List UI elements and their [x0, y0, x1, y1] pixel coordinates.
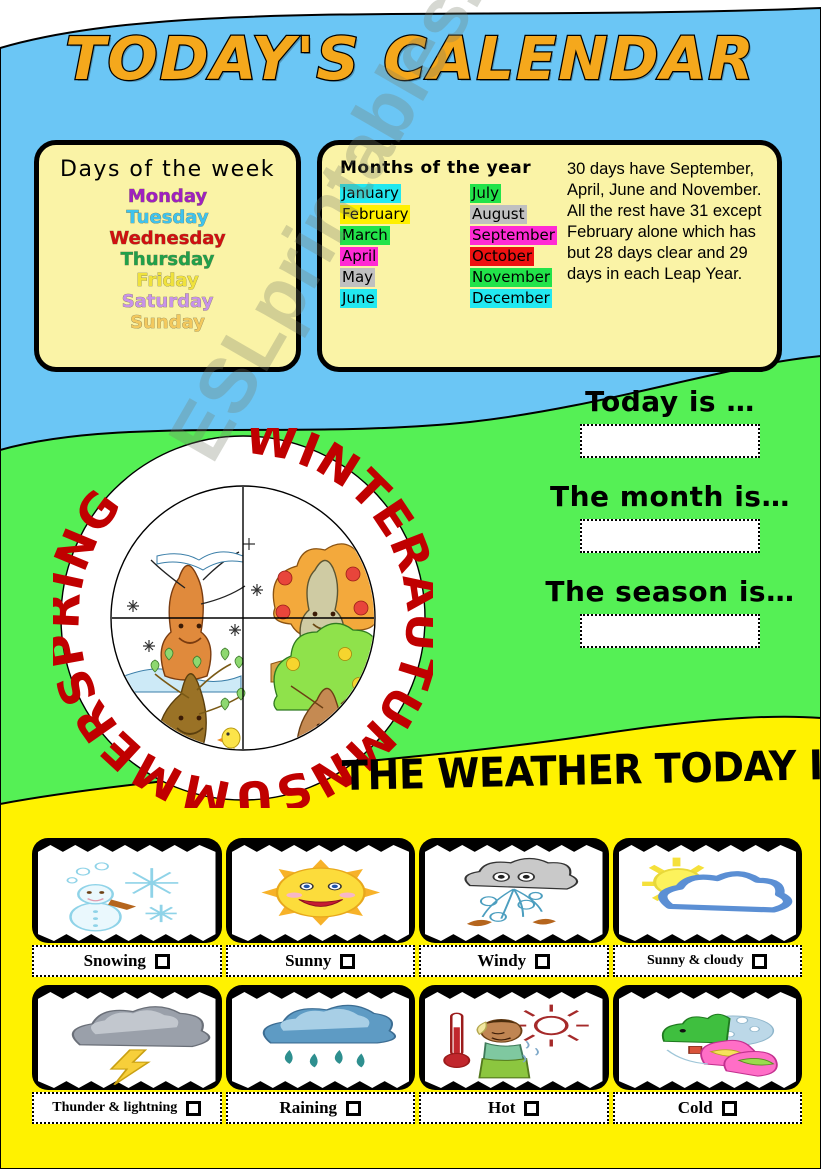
form-label-0: Today is …: [530, 385, 810, 418]
windy-cloud-icon: [425, 843, 603, 942]
month-item: May: [340, 268, 375, 287]
weather-checkbox[interactable]: [186, 1101, 201, 1116]
month-item: August: [470, 205, 527, 224]
month-item: October: [470, 247, 534, 266]
form-input-2[interactable]: [580, 614, 760, 648]
weather-card-label-row[interactable]: Snowing: [32, 945, 222, 977]
weather-checkbox[interactable]: [722, 1101, 737, 1116]
day-of-week-item: Wednesday: [39, 228, 296, 249]
months-of-year-card: Months of the year JanuaryFebruaryMarchA…: [317, 140, 782, 372]
weather-card-label: Hot: [488, 1098, 515, 1118]
weather-card[interactable]: Windy: [419, 838, 609, 977]
weather-card-image: [32, 838, 222, 943]
weather-checkbox[interactable]: [752, 954, 767, 969]
weather-card-label: Raining: [279, 1098, 337, 1118]
day-of-week-item: Saturday: [39, 291, 296, 312]
weather-card-image: [419, 838, 609, 943]
hot-thermometer-icon: [425, 990, 603, 1089]
weather-card-label-row[interactable]: Cold: [613, 1092, 803, 1124]
month-item: April: [340, 247, 378, 266]
days-of-week-list: MondayTuesdayWednesdayThursdayFridaySatu…: [39, 186, 296, 333]
weather-checkbox[interactable]: [155, 954, 170, 969]
weather-card-image: [613, 985, 803, 1090]
weather-card-image: [226, 838, 416, 943]
days-of-week-card: Days of the week MondayTuesdayWednesdayT…: [34, 140, 301, 372]
weather-card-label: Cold: [678, 1098, 713, 1118]
weather-card-image: [613, 838, 803, 943]
weather-card-label-row[interactable]: Windy: [419, 945, 609, 977]
month-item: February: [340, 205, 410, 224]
weather-checkbox[interactable]: [524, 1101, 539, 1116]
weather-checkbox[interactable]: [535, 954, 550, 969]
month-item: September: [470, 226, 557, 245]
weather-card-label-row[interactable]: Sunny: [226, 945, 416, 977]
month-item: June: [340, 289, 377, 308]
form-label-2: The season is…: [530, 575, 810, 608]
weather-card-image: [32, 985, 222, 1090]
weather-card[interactable]: Hot: [419, 985, 609, 1124]
weather-card-label: Thunder & lightning: [52, 1100, 177, 1116]
form-input-1[interactable]: [580, 519, 760, 553]
month-item: December: [470, 289, 552, 308]
cold-person-icon: [619, 990, 797, 1089]
worksheet-page: TODAY'S CALENDAR Days of the week Monday…: [0, 0, 821, 1169]
weather-card[interactable]: Thunder & lightning: [32, 985, 222, 1124]
weather-card[interactable]: Sunny & cloudy: [613, 838, 803, 977]
page-title: TODAY'S CALENDAR: [0, 24, 821, 93]
months-column-left: JanuaryFebruaryMarchAprilMayJune: [340, 184, 460, 308]
rain-cloud-icon: [232, 990, 410, 1089]
weather-card[interactable]: Cold: [613, 985, 803, 1124]
weather-card-label-row[interactable]: Raining: [226, 1092, 416, 1124]
month-item: January: [340, 184, 401, 203]
day-of-week-item: Monday: [39, 186, 296, 207]
sun-behind-cloud-icon: [619, 843, 797, 942]
weather-checkbox[interactable]: [340, 954, 355, 969]
month-item: July: [470, 184, 501, 203]
thundercloud-icon: [38, 990, 216, 1089]
weather-card[interactable]: Snowing: [32, 838, 222, 977]
weather-card-grid: SnowingSunnyWindySunny & cloudyThunder &…: [32, 838, 802, 1124]
days-in-month-rhyme: 30 days have September, April, June and …: [567, 159, 772, 285]
form-input-0[interactable]: [580, 424, 760, 458]
weather-card-label: Sunny: [285, 951, 331, 971]
weather-checkbox[interactable]: [346, 1101, 361, 1116]
weather-card-image: [226, 985, 416, 1090]
weather-card[interactable]: Raining: [226, 985, 416, 1124]
day-of-week-item: Tuesday: [39, 207, 296, 228]
smiling-sun-icon: [232, 843, 410, 942]
day-of-week-item: Friday: [39, 270, 296, 291]
month-item: March: [340, 226, 390, 245]
weather-card-label: Windy: [477, 951, 526, 971]
weather-card-image: [419, 985, 609, 1090]
day-of-week-item: Thursday: [39, 249, 296, 270]
weather-card-label-row[interactable]: Sunny & cloudy: [613, 945, 803, 977]
weather-card-label-row[interactable]: Thunder & lightning: [32, 1092, 222, 1124]
day-of-week-item: Sunday: [39, 312, 296, 333]
weather-card-label-row[interactable]: Hot: [419, 1092, 609, 1124]
days-of-week-heading: Days of the week: [39, 157, 296, 182]
form-label-1: The month is…: [530, 480, 810, 513]
weather-card-label: Sunny & cloudy: [647, 953, 743, 969]
snowman-snowflake-icon: [38, 843, 216, 942]
month-item: November: [470, 268, 552, 287]
weather-card[interactable]: Sunny: [226, 838, 416, 977]
today-form: Today is …The month is…The season is…: [530, 385, 810, 648]
weather-card-label: Snowing: [84, 951, 146, 971]
page-title-text: TODAY'S CALENDAR: [65, 24, 755, 93]
